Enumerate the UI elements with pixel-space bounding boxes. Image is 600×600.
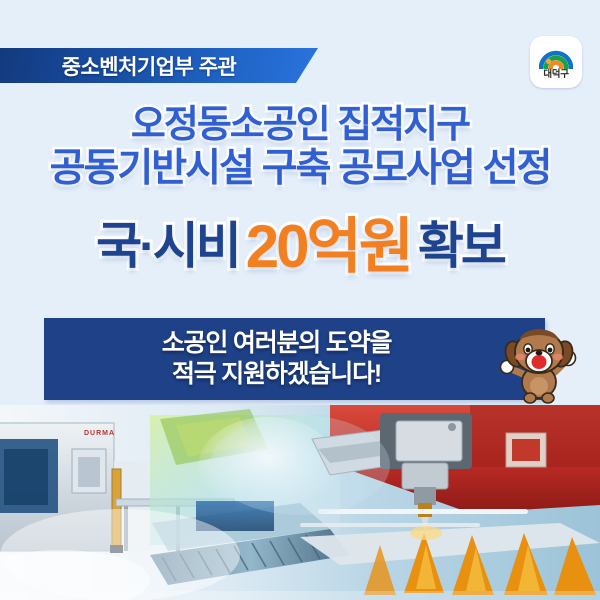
message-text: 소공인 여러분의 도약을 적극 지원하겠습니다! xyxy=(44,318,545,400)
laser-cutting-machine-illustration: DURMA xyxy=(0,405,600,600)
factory-photo: DURMA xyxy=(0,405,600,600)
headline-amount-row: 국·시비 20억원 확보 xyxy=(0,216,600,276)
ribbon-label: 중소벤처기업부 주관 xyxy=(62,51,237,81)
daedeok-gu-logo: 대덕구 xyxy=(530,36,582,88)
ribbon-banner: 중소벤처기업부 주관 xyxy=(0,48,318,83)
title-line-1: 오정동소공인 집적지구 xyxy=(0,104,600,147)
poster-root: 중소벤처기업부 주관 대덕구 오정동소공인 집적지구 공동기반시설 구축 공모사… xyxy=(0,0,600,600)
message-line-2: 적극 지원하겠습니다! xyxy=(172,359,381,390)
main-title: 오정동소공인 집적지구 공동기반시설 구축 공모사업 선정 xyxy=(0,104,600,190)
logo-label: 대덕구 xyxy=(543,70,568,80)
headline-amount: 20억원 xyxy=(246,217,411,277)
headline-suffix: 확보 xyxy=(418,221,504,271)
message-line-1: 소공인 여러분의 도약을 xyxy=(162,328,392,359)
rainbow-arc-icon xyxy=(539,45,573,69)
headline-prefix: 국·시비 xyxy=(96,221,239,271)
title-line-2: 공동기반시설 구축 공모사업 선정 xyxy=(0,147,600,191)
dog-mascot-icon xyxy=(497,324,581,414)
svg-text:DURMA: DURMA xyxy=(84,430,115,437)
